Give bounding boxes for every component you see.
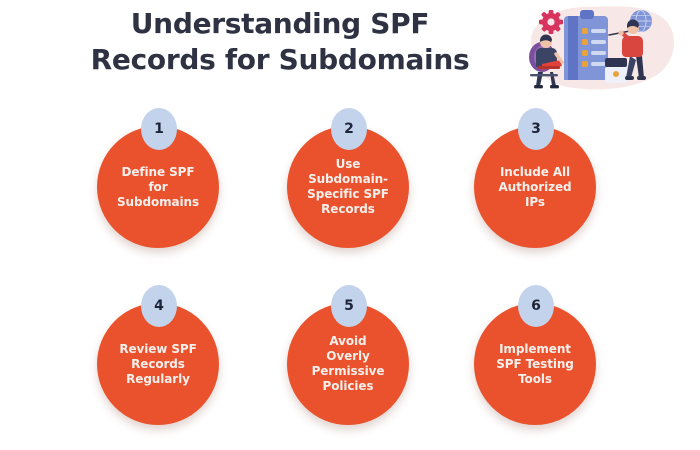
step-badge-4: 4 xyxy=(141,285,177,327)
header: Understanding SPF Records for Subdomains xyxy=(0,0,700,96)
step-label-3: Include All Authorized IPs xyxy=(492,165,577,210)
step-item-4[interactable]: Review SPF Records Regularly 4 xyxy=(85,285,235,435)
step-badge-1: 1 xyxy=(141,108,177,150)
step-item-3[interactable]: Include All Authorized IPs 3 xyxy=(462,108,612,258)
infographic-canvas: Understanding SPF Records for Subdomains xyxy=(0,0,700,450)
page-title: Understanding SPF Records for Subdomains xyxy=(40,6,520,78)
step-item-6[interactable]: Implement SPF Testing Tools 6 xyxy=(462,285,612,435)
step-label-6: Implement SPF Testing Tools xyxy=(490,342,580,387)
step-number-4: 4 xyxy=(154,299,164,313)
step-label-4: Review SPF Records Regularly xyxy=(113,342,202,387)
device-box xyxy=(605,58,627,83)
step-item-5[interactable]: Avoid Overly Permissive Policies 5 xyxy=(275,285,425,435)
steps-grid: Define SPF for Subdomains 1 Use Subdomai… xyxy=(0,100,700,450)
step-badge-6: 6 xyxy=(518,285,554,327)
checklist-board xyxy=(564,10,608,80)
step-label-5: Avoid Overly Permissive Policies xyxy=(306,334,391,394)
step-badge-3: 3 xyxy=(518,108,554,150)
step-label-1: Define SPF for Subdomains xyxy=(111,165,205,210)
step-number-5: 5 xyxy=(344,299,354,313)
step-item-1[interactable]: Define SPF for Subdomains 1 xyxy=(85,108,235,258)
step-number-6: 6 xyxy=(531,299,541,313)
spf-checklist-illustration xyxy=(512,2,688,94)
step-item-2[interactable]: Use Subdomain- Specific SPF Records 2 xyxy=(275,108,425,258)
step-badge-5: 5 xyxy=(331,285,367,327)
step-label-2: Use Subdomain- Specific SPF Records xyxy=(301,157,395,217)
step-number-3: 3 xyxy=(531,122,541,136)
step-badge-2: 2 xyxy=(331,108,367,150)
step-number-2: 2 xyxy=(344,122,354,136)
step-number-1: 1 xyxy=(154,122,164,136)
